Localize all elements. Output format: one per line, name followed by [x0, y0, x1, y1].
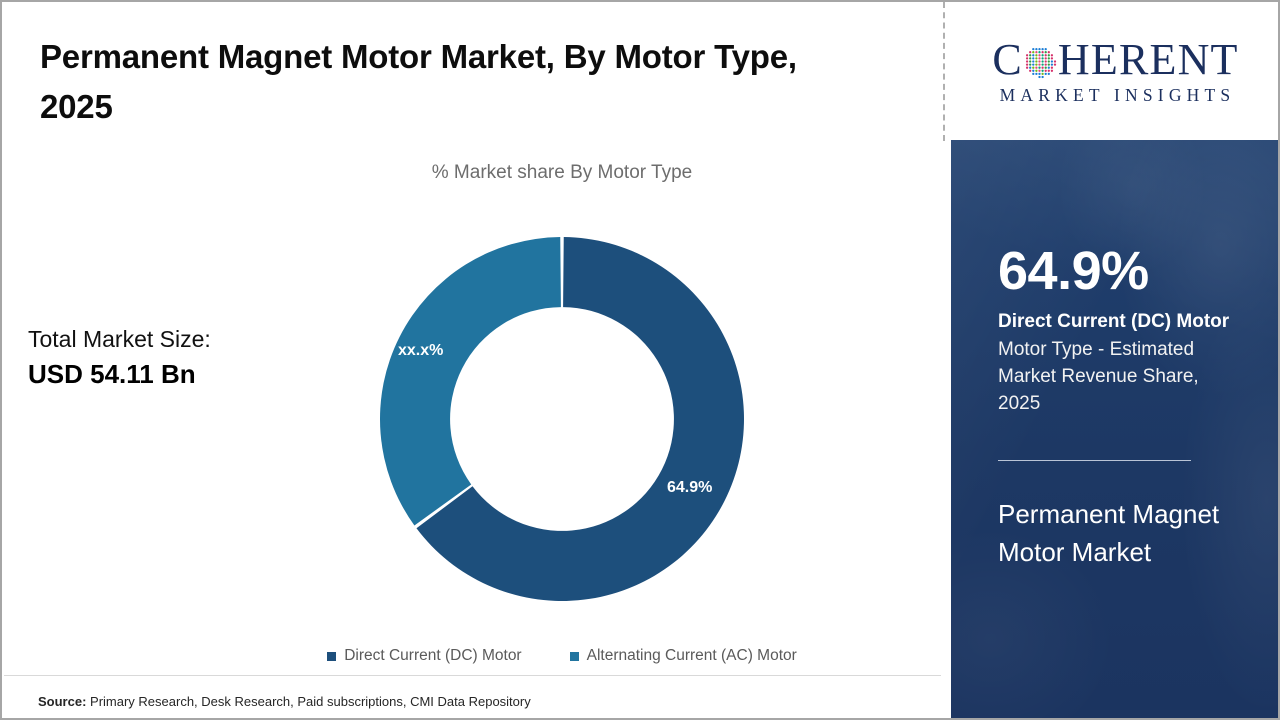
- source-prefix: Source:: [38, 694, 86, 709]
- legend-swatch-dc-icon: [327, 652, 336, 661]
- chart-main-area: Permanent Magnet Motor Market, By Motor …: [2, 2, 943, 718]
- highlight-divider: [998, 460, 1191, 461]
- logo-letter-c: C: [992, 38, 1023, 82]
- legend-swatch-ac-icon: [570, 652, 579, 661]
- infographic-page: Permanent Magnet Motor Market, By Motor …: [0, 0, 1280, 720]
- logo-letters-herent: HERENT: [1058, 38, 1239, 82]
- dotted-globe-icon: [1023, 45, 1057, 79]
- logo-subtitle: MARKET INSIGHTS: [996, 85, 1236, 106]
- highlight-panel: 64.9% Direct Current (DC) Motor Motor Ty…: [951, 140, 1280, 720]
- highlight-panel-content: 64.9% Direct Current (DC) Motor Motor Ty…: [998, 140, 1266, 720]
- donut-label-ac: xx.x%: [398, 342, 443, 360]
- logo-wordmark: C HERENT: [992, 38, 1238, 82]
- source-note: Source: Primary Research, Desk Research,…: [38, 694, 531, 709]
- source-text: Primary Research, Desk Research, Paid su…: [86, 694, 530, 709]
- donut-slice-ac[interactable]: [380, 237, 561, 525]
- page-title: Permanent Magnet Motor Market, By Motor …: [40, 32, 870, 131]
- vertical-dashed-divider: [943, 2, 945, 141]
- legend-label-dc: Direct Current (DC) Motor: [344, 647, 521, 665]
- highlight-segment-name: Direct Current (DC) Motor: [998, 311, 1229, 333]
- legend-item-dc[interactable]: Direct Current (DC) Motor: [327, 647, 521, 665]
- total-market-size-label: Total Market Size:: [28, 324, 318, 355]
- right-column: C HERENT MARKET INSIGHTS 64.9% Direct Cu…: [951, 4, 1280, 720]
- highlight-description: Motor Type - Estimated Market Revenue Sh…: [998, 337, 1242, 418]
- total-market-size-block: Total Market Size: USD 54.11 Bn: [28, 324, 318, 392]
- highlight-percent: 64.9%: [998, 244, 1149, 298]
- source-divider: [4, 675, 941, 676]
- brand-logo: C HERENT MARKET INSIGHTS: [951, 4, 1280, 140]
- donut-label-dc: 64.9%: [667, 479, 712, 497]
- donut-chart: 64.9% xx.x%: [380, 237, 744, 601]
- total-market-size-value: USD 54.11 Bn: [28, 357, 318, 392]
- legend-item-ac[interactable]: Alternating Current (AC) Motor: [570, 647, 797, 665]
- donut-chart-svg: [380, 237, 744, 601]
- highlight-market-name: Permanent Magnet Motor Market: [998, 495, 1238, 571]
- legend-label-ac: Alternating Current (AC) Motor: [587, 647, 797, 665]
